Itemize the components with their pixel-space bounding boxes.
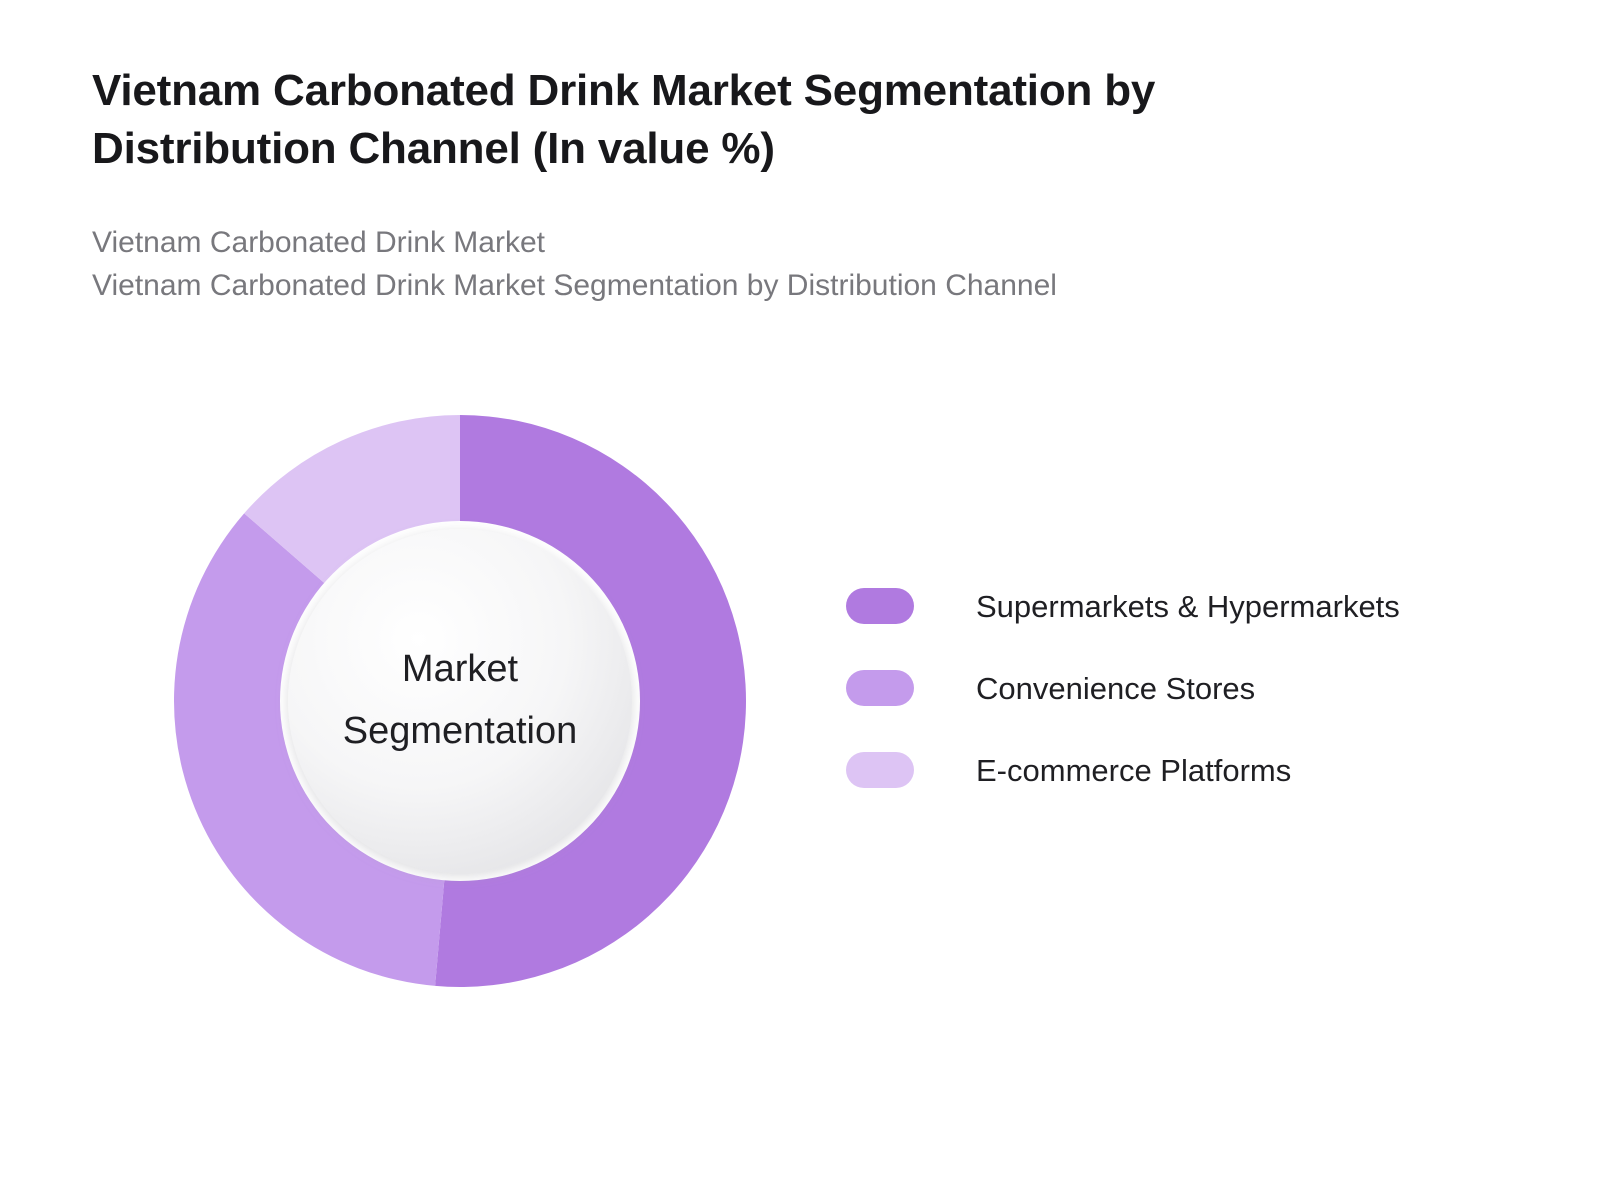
donut-slice[interactable]	[174, 513, 445, 986]
chart-legend: Supermarkets & HypermarketsConvenience S…	[846, 583, 1400, 793]
donut-center-label: Market Segmentation	[284, 525, 636, 877]
legend-label: E-commerce Platforms	[976, 755, 1291, 786]
chart-header: Vietnam Carbonated Drink Market Segmenta…	[92, 62, 1392, 307]
legend-swatch-icon	[846, 588, 914, 624]
donut-svg	[174, 415, 746, 987]
subtitle-line-1: Vietnam Carbonated Drink Market	[92, 222, 1392, 265]
donut-chart: Market Segmentation	[174, 415, 746, 987]
chart-page: Vietnam Carbonated Drink Market Segmenta…	[0, 0, 1600, 1200]
subtitle-block: Vietnam Carbonated Drink Market Vietnam …	[92, 222, 1392, 307]
donut-center-line-1: Market	[402, 639, 518, 701]
legend-label: Convenience Stores	[976, 673, 1255, 704]
legend-item[interactable]: Convenience Stores	[846, 665, 1400, 711]
legend-item[interactable]: Supermarkets & Hypermarkets	[846, 583, 1400, 629]
legend-label: Supermarkets & Hypermarkets	[976, 591, 1400, 622]
page-title: Vietnam Carbonated Drink Market Segmenta…	[92, 62, 1332, 178]
subtitle-line-2: Vietnam Carbonated Drink Market Segmenta…	[92, 265, 1392, 308]
donut-center-line-2: Segmentation	[343, 701, 578, 763]
legend-item[interactable]: E-commerce Platforms	[846, 747, 1400, 793]
donut-slice[interactable]	[435, 415, 746, 987]
donut-slice[interactable]	[244, 415, 460, 586]
donut-hub-ring	[280, 521, 640, 881]
donut-slices	[174, 415, 746, 987]
donut-hub	[288, 529, 632, 873]
legend-swatch-icon	[846, 670, 914, 706]
legend-swatch-icon	[846, 752, 914, 788]
